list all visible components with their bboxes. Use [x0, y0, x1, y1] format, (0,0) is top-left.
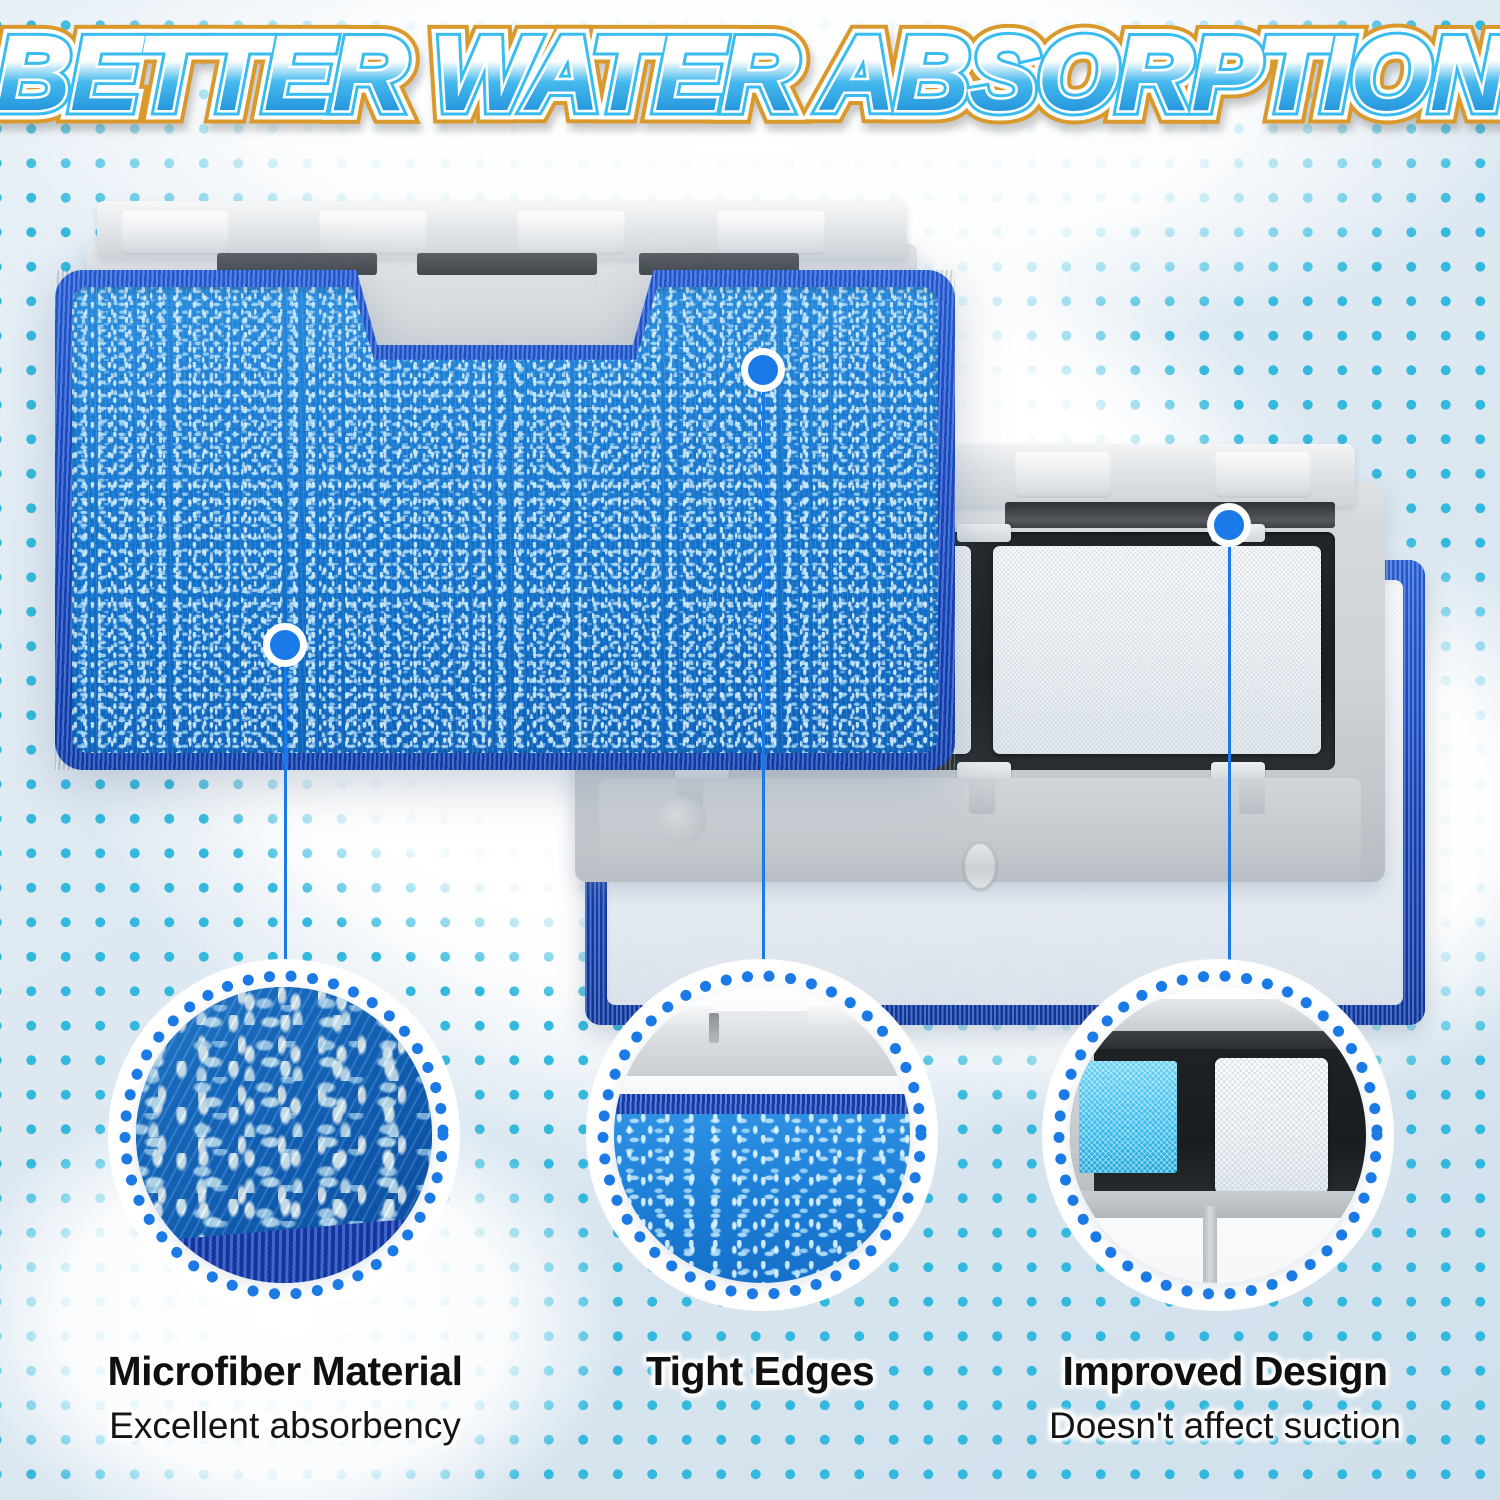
callout-circle-group [0, 0, 1500, 1500]
feature-subtitle: Doesn't affect suction [975, 1405, 1475, 1447]
headline-face: BETTER WATER ABSORPTION [0, 17, 1500, 133]
feature-title: Microfiber Material [20, 1348, 550, 1395]
callout-image-microfiber [136, 987, 432, 1283]
infographic-stage: BETTER WATER ABSORPTION BETTER WATER ABS… [0, 0, 1500, 1500]
callout-image-improved-design [1070, 987, 1366, 1283]
feature-label-microfiber-material: Microfiber Material Excellent absorbency [20, 1348, 550, 1447]
feature-label-improved-design: Improved Design Doesn't affect suction [975, 1348, 1475, 1447]
tight-edges-plate-slot [709, 1013, 719, 1043]
improved-design-stem [1203, 1206, 1217, 1283]
callout-circle-tight-edges[interactable] [592, 965, 932, 1305]
headline-banner: BETTER WATER ABSORPTION BETTER WATER ABS… [0, 10, 1500, 140]
feature-title: Improved Design [975, 1348, 1475, 1395]
feature-subtitle: Excellent absorbency [20, 1405, 550, 1447]
feature-title: Tight Edges [560, 1348, 960, 1395]
tight-edges-plate-tab [653, 1006, 715, 1032]
tight-edges-microfiber [614, 1114, 910, 1283]
tight-edges-plate-tab [807, 1006, 869, 1032]
improved-design-cyan-filter [1079, 1061, 1177, 1173]
callout-circle-microfiber[interactable] [114, 965, 454, 1305]
callout-image-tight-edges [614, 987, 910, 1283]
improved-design-white-filter [1215, 1058, 1327, 1194]
improved-design-lower-band [1070, 1191, 1366, 1218]
callout-circle-improved-design[interactable] [1048, 965, 1388, 1305]
feature-label-group: Microfiber Material Excellent absorbency… [0, 1330, 1500, 1500]
feature-label-tight-edges: Tight Edges [560, 1348, 960, 1405]
headline-text-group: BETTER WATER ABSORPTION BETTER WATER ABS… [0, 23, 1500, 127]
